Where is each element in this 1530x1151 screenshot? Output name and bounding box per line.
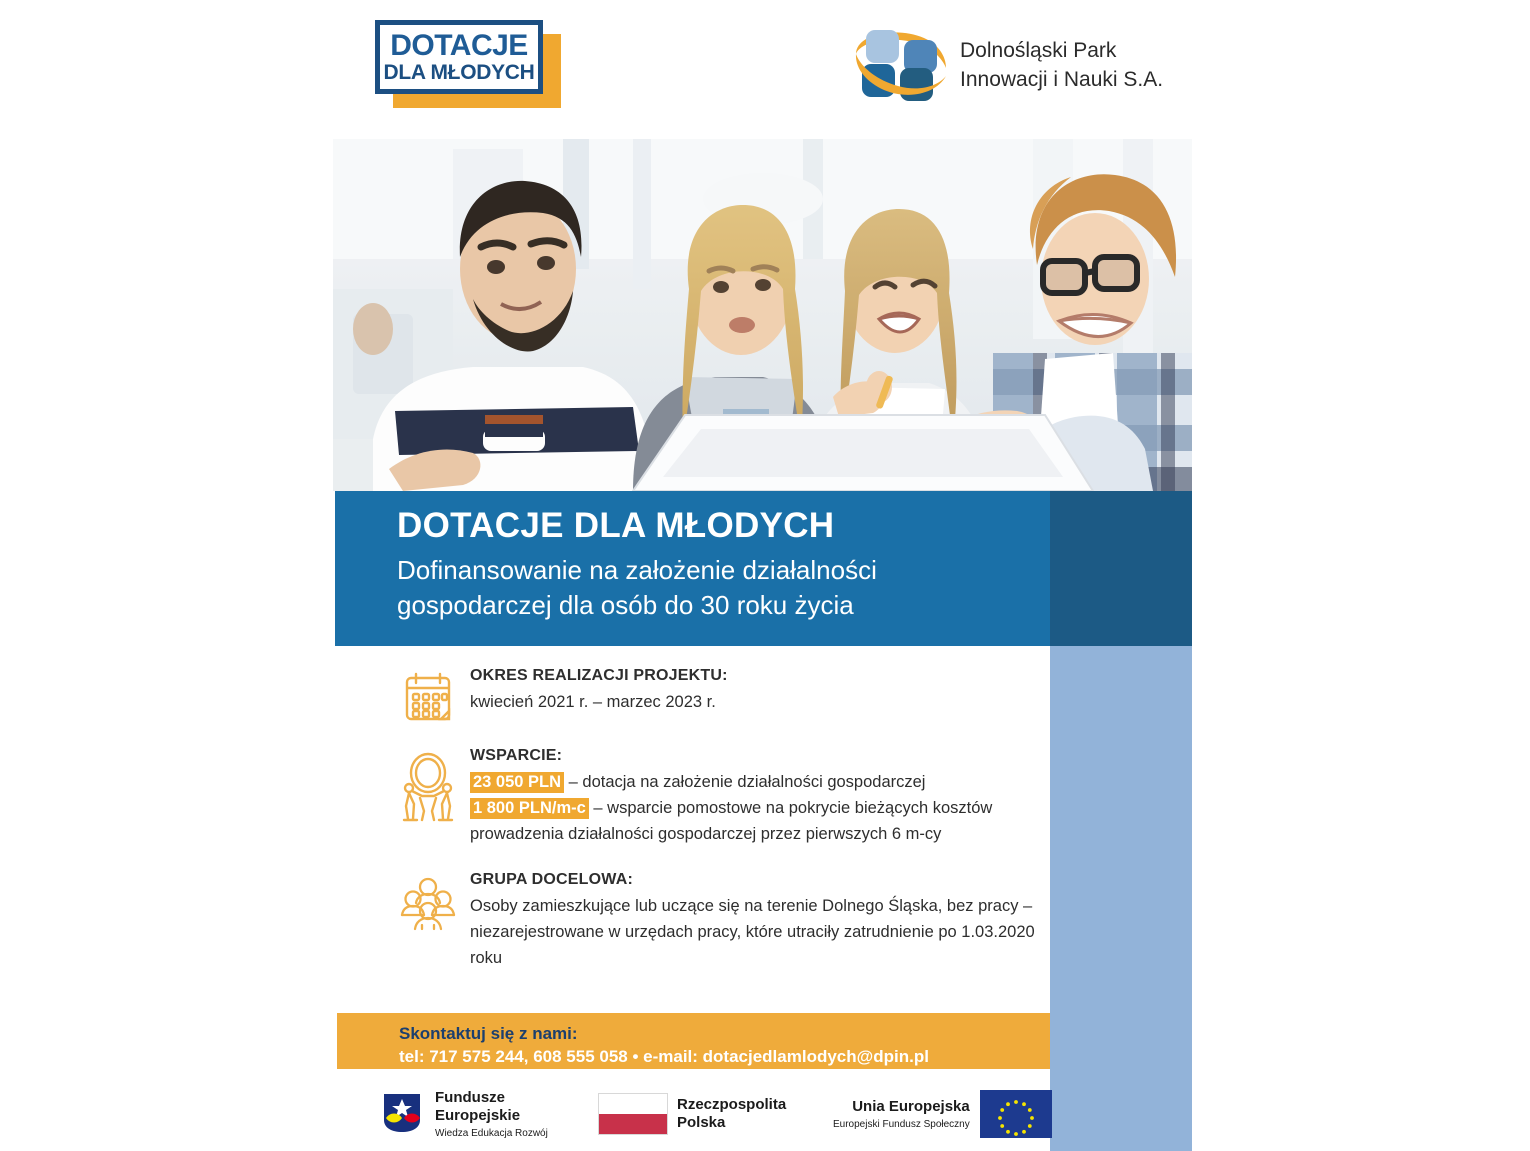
unia-subtitle: Europejski Fundusz Społeczny bbox=[833, 1118, 970, 1131]
fundusze-europejskie-icon bbox=[378, 1090, 426, 1139]
info-row-target-group: GRUPA DOCELOWA: Osoby zamieszkujące lub … bbox=[386, 869, 1066, 971]
support-amount-1: 23 050 PLN bbox=[470, 772, 564, 793]
fundusze-line-1: Fundusze bbox=[435, 1089, 505, 1106]
section-heading-support: WSPARCIE: bbox=[470, 747, 1066, 765]
poster-header: DOTACJE DLA MŁODYCH Dolnośląski Park Inn… bbox=[0, 0, 1530, 128]
contact-inner: Skontaktuj się z nami: tel: 717 575 244,… bbox=[399, 1022, 929, 1069]
section-text-target: Osoby zamieszkujące lub uczące się na te… bbox=[470, 893, 1066, 971]
rzeczpospolita-polska-logo: Rzeczpospolita Polska bbox=[598, 1085, 786, 1143]
unia-europejska-logo: Unia Europejska Europejski Fundusz Społe… bbox=[833, 1085, 1052, 1143]
poster-title: DOTACJE DLA MŁODYCH bbox=[397, 506, 834, 546]
info-row-body: GRUPA DOCELOWA: Osoby zamieszkujące lub … bbox=[470, 869, 1066, 971]
logo-inner: DOTACJE DLA MŁODYCH bbox=[380, 25, 538, 89]
unia-europejska-text: Unia Europejska Europejski Fundusz Społe… bbox=[833, 1098, 970, 1131]
poster-subtitle-line-2: gospodarczej dla osób do 30 roku życia bbox=[397, 588, 1037, 623]
logo-line-2: DLA MŁODYCH bbox=[383, 61, 534, 84]
info-sections: OKRES REALIZACJI PROJEKTU: kwiecień 2021… bbox=[386, 665, 1066, 985]
flag-red-stripe bbox=[599, 1114, 667, 1134]
eu-flag-icon bbox=[980, 1090, 1052, 1138]
info-row-support: WSPARCIE: 23 050 PLN – dotacja na założe… bbox=[386, 745, 1066, 847]
people-group-icon bbox=[386, 869, 470, 933]
logo-blue-frame: DOTACJE DLA MŁODYCH bbox=[375, 20, 543, 94]
rzeczpospolita-line-1: Rzeczpospolita bbox=[677, 1096, 786, 1113]
flag-white-stripe bbox=[599, 1094, 667, 1114]
contact-heading: Skontaktuj się z nami: bbox=[399, 1022, 929, 1045]
contact-bar: Skontaktuj się z nami: tel: 717 575 244,… bbox=[337, 1013, 1050, 1069]
banner-side-block bbox=[1050, 491, 1192, 646]
fundusze-line-2: Europejskie bbox=[435, 1107, 520, 1124]
fundusze-europejskie-logo: Fundusze Europejskie Wiedza Edukacja Roz… bbox=[378, 1085, 548, 1143]
info-row-body: OKRES REALIZACJI PROJEKTU: kwiecień 2021… bbox=[470, 665, 728, 715]
coin-carriers-icon bbox=[386, 745, 470, 823]
unia-line-1: Unia Europejska bbox=[852, 1098, 970, 1115]
title-banner: DOTACJE DLA MŁODYCH Dofinansowanie na za… bbox=[335, 491, 1192, 646]
rzeczpospolita-line-2: Polska bbox=[677, 1114, 725, 1131]
fundusze-subtitle: Wiedza Edukacja Rozwój bbox=[435, 1127, 548, 1140]
calendar-icon bbox=[386, 665, 470, 723]
poster-subtitle: Dofinansowanie na założenie działalności… bbox=[397, 553, 1037, 623]
photo-young-people-laptop bbox=[333, 139, 1192, 491]
section-heading-period: OKRES REALIZACJI PROJEKTU: bbox=[470, 667, 728, 685]
section-heading-target: GRUPA DOCELOWA: bbox=[470, 871, 1066, 889]
logo-line-1: DOTACJE bbox=[390, 31, 528, 61]
polish-flag-icon bbox=[598, 1093, 668, 1135]
dpin-text-line-2: Innowacji i Nauki S.A. bbox=[960, 65, 1163, 94]
decorative-side-column bbox=[1050, 646, 1192, 1151]
support-amount-1-text: – dotacja na założenie działalności gosp… bbox=[564, 773, 925, 791]
info-row-body: WSPARCIE: 23 050 PLN – dotacja na założe… bbox=[470, 745, 1066, 847]
poster-subtitle-line-1: Dofinansowanie na założenie działalności bbox=[397, 553, 1037, 588]
poster-root: DOTACJE DLA MŁODYCH Dolnośląski Park Inn… bbox=[0, 0, 1530, 1151]
dotacje-dla-mlodych-logo: DOTACJE DLA MŁODYCH bbox=[375, 20, 561, 108]
rzeczpospolita-text: Rzeczpospolita Polska bbox=[677, 1096, 786, 1132]
fundusze-europejskie-text: Fundusze Europejskie Wiedza Edukacja Roz… bbox=[435, 1089, 548, 1140]
info-row-project-period: OKRES REALIZACJI PROJEKTU: kwiecień 2021… bbox=[386, 665, 1066, 723]
footer-logos: Fundusze Europejskie Wiedza Edukacja Roz… bbox=[333, 1085, 1193, 1147]
dpin-partner-logo: Dolnośląski Park Innowacji i Nauki S.A. bbox=[850, 20, 1180, 108]
dpin-text-line-1: Dolnośląski Park bbox=[960, 36, 1163, 65]
contact-details[interactable]: tel: 717 575 244, 608 555 058 • e-mail: … bbox=[399, 1045, 929, 1069]
support-amount-2: 1 800 PLN/m-c bbox=[470, 798, 589, 819]
dpin-logo-text: Dolnośląski Park Innowacji i Nauki S.A. bbox=[960, 36, 1163, 94]
section-text-support: 23 050 PLN – dotacja na założenie działa… bbox=[470, 769, 1066, 847]
section-text-period: kwiecień 2021 r. – marzec 2023 r. bbox=[470, 689, 728, 715]
dpin-squares-icon bbox=[850, 24, 950, 104]
